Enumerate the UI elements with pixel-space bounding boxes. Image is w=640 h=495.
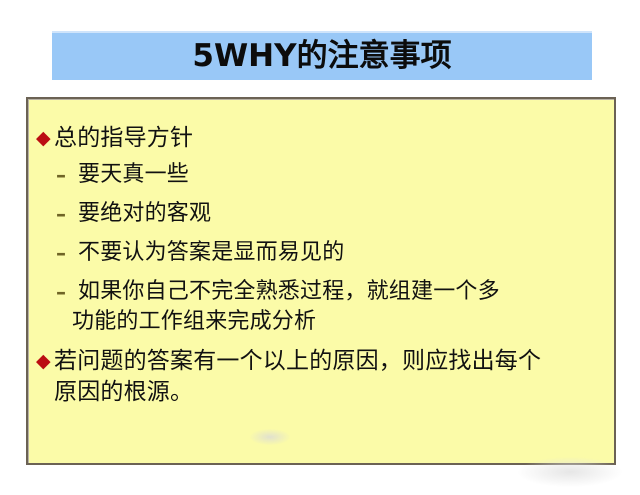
list-item: ◆ 总的指导方针 (34, 123, 610, 154)
list-item-label: 总的指导方针 (54, 123, 610, 154)
list-item-label-line1: 如果你自己不完全熟悉过程，就组建一个多 (78, 279, 500, 304)
list-item: – 要绝对的客观 (34, 199, 610, 229)
bullet-list: ◆ 总的指导方针 – 要天真一些 – 要绝对的客观 – 不要认为答案是显而易见的 (34, 123, 610, 414)
dash-bullet-icon: – (34, 160, 78, 190)
title-banner: 5WHY的注意事项 (52, 31, 592, 80)
list-item: – 要天真一些 (34, 160, 610, 190)
list-item-label: 若问题的答案有一个以上的原因，则应找出每个 原因的根源。 (54, 346, 610, 408)
watermark-smudge-left (250, 429, 290, 445)
dash-bullet-icon: – (34, 277, 78, 307)
content-box: ◆ 总的指导方针 – 要天真一些 – 要绝对的客观 – 不要认为答案是显而易见的 (26, 97, 616, 465)
dash-bullet-icon: – (34, 199, 78, 229)
list-item-label-line2: 原因的根源。 (54, 377, 610, 408)
list-item: – 不要认为答案是显而易见的 (34, 238, 610, 268)
list-item-label: 如果你自己不完全熟悉过程，就组建一个多 功能的工作组来完成分析 (78, 277, 610, 337)
list-item: ◆ 若问题的答案有一个以上的原因，则应找出每个 原因的根源。 (34, 346, 610, 408)
list-item-label-line2: 功能的工作组来完成分析 (72, 307, 610, 337)
list-item-label: 要天真一些 (78, 160, 610, 190)
sub-list: – 要天真一些 – 要绝对的客观 – 不要认为答案是显而易见的 – (34, 160, 610, 337)
diamond-bullet-icon: ◆ (34, 123, 54, 153)
list-item-label: 不要认为答案是显而易见的 (78, 238, 610, 268)
list-item: – 如果你自己不完全熟悉过程，就组建一个多 功能的工作组来完成分析 (34, 277, 610, 337)
page-title: 5WHY的注意事项 (192, 41, 451, 72)
list-item-label-line1: 若问题的答案有一个以上的原因，则应找出每个 (54, 348, 541, 374)
dash-bullet-icon: – (34, 238, 78, 268)
list-item-label: 要绝对的客观 (78, 199, 610, 229)
diamond-bullet-icon: ◆ (34, 346, 54, 376)
slide: 5WHY的注意事项 ◆ 总的指导方针 – 要天真一些 – 要绝对的客观 (0, 0, 640, 495)
